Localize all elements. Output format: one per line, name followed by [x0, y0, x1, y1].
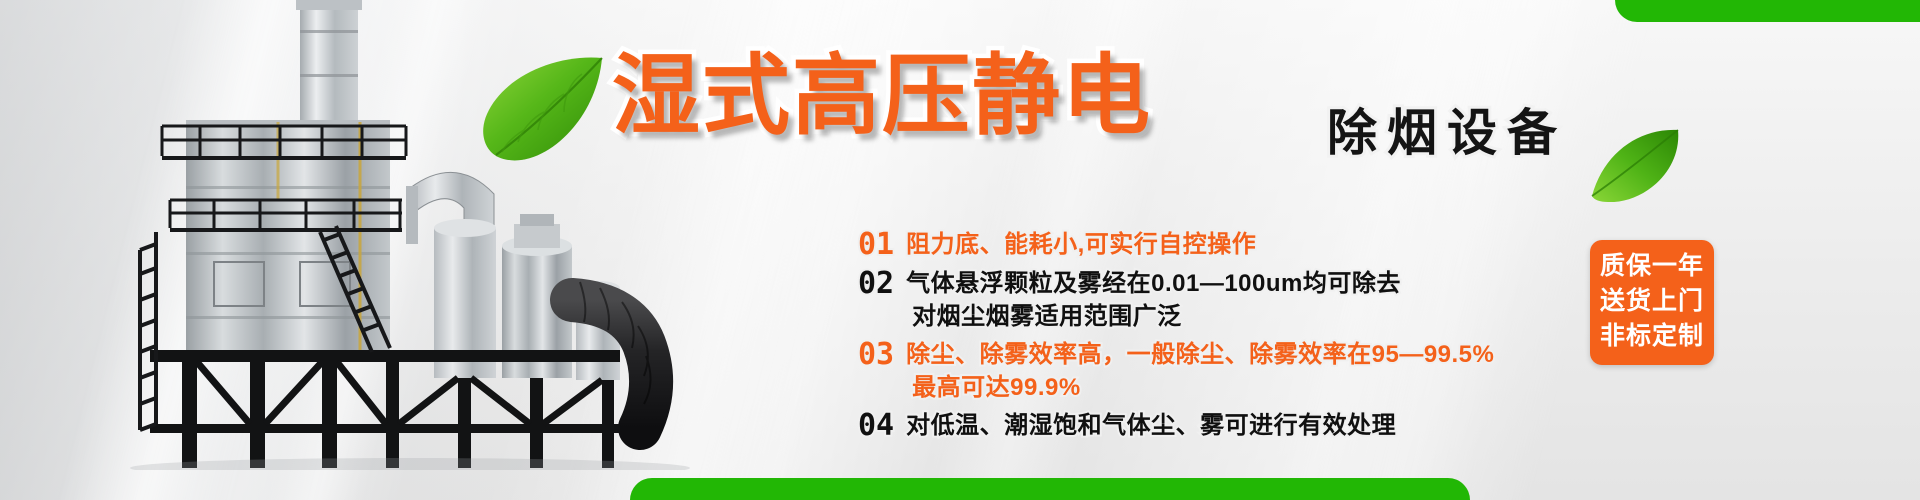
feature-line: 除尘、除雾效率高，一般除尘、除雾效率在95—99.5%	[906, 338, 1494, 371]
feature-text: 气体悬浮颗粒及雾经在0.01—100um均可除去 对烟尘烟雾适用范围广泛	[906, 267, 1401, 333]
page-title: 湿式高压静电	[612, 52, 1152, 140]
product-banner: 湿式高压静电 除烟设备 01 阻力底、能耗小,可实行自控操作 02 气体悬浮颗粒…	[0, 0, 1920, 500]
badge-line: 质保一年	[1590, 249, 1714, 284]
list-item: 02 气体悬浮颗粒及雾经在0.01—100um均可除去 对烟尘烟雾适用范围广泛	[858, 267, 1558, 333]
feature-text: 除尘、除雾效率高，一般除尘、除雾效率在95—99.5% 最高可达99.9%	[906, 338, 1494, 404]
feature-number: 02	[858, 267, 894, 301]
guarantee-badge: 质保一年 送货上门 非标定制	[1590, 240, 1714, 365]
leaf-icon	[478, 52, 608, 162]
green-accent-bar-top	[1615, 0, 1920, 22]
feature-line: 对烟尘烟雾适用范围广泛	[912, 300, 1401, 333]
feature-line: 最高可达99.9%	[912, 371, 1494, 404]
feature-line: 阻力底、能耗小,可实行自控操作	[906, 228, 1256, 261]
green-accent-bar-bottom	[630, 478, 1470, 500]
feature-line: 气体悬浮颗粒及雾经在0.01—100um均可除去	[906, 267, 1401, 300]
feature-number: 03	[858, 338, 894, 372]
list-item: 03 除尘、除雾效率高，一般除尘、除雾效率在95—99.5% 最高可达99.9%	[858, 338, 1558, 404]
feature-line: 对低温、潮湿饱和气体尘、雾可进行有效处理	[906, 409, 1396, 442]
feature-number: 01	[858, 228, 894, 262]
feature-text: 阻力底、能耗小,可实行自控操作	[906, 228, 1256, 261]
list-item: 01 阻力底、能耗小,可实行自控操作	[858, 228, 1558, 262]
feature-number: 04	[858, 409, 894, 443]
list-item: 04 对低温、潮湿饱和气体尘、雾可进行有效处理	[858, 409, 1558, 443]
badge-line: 非标定制	[1590, 319, 1714, 354]
badge-line: 送货上门	[1590, 284, 1714, 319]
leaf-icon	[1590, 128, 1682, 202]
page-subtitle: 除烟设备	[1327, 108, 1567, 158]
feature-list: 01 阻力底、能耗小,可实行自控操作 02 气体悬浮颗粒及雾经在0.01—100…	[858, 228, 1558, 448]
feature-text: 对低温、潮湿饱和气体尘、雾可进行有效处理	[906, 409, 1396, 442]
